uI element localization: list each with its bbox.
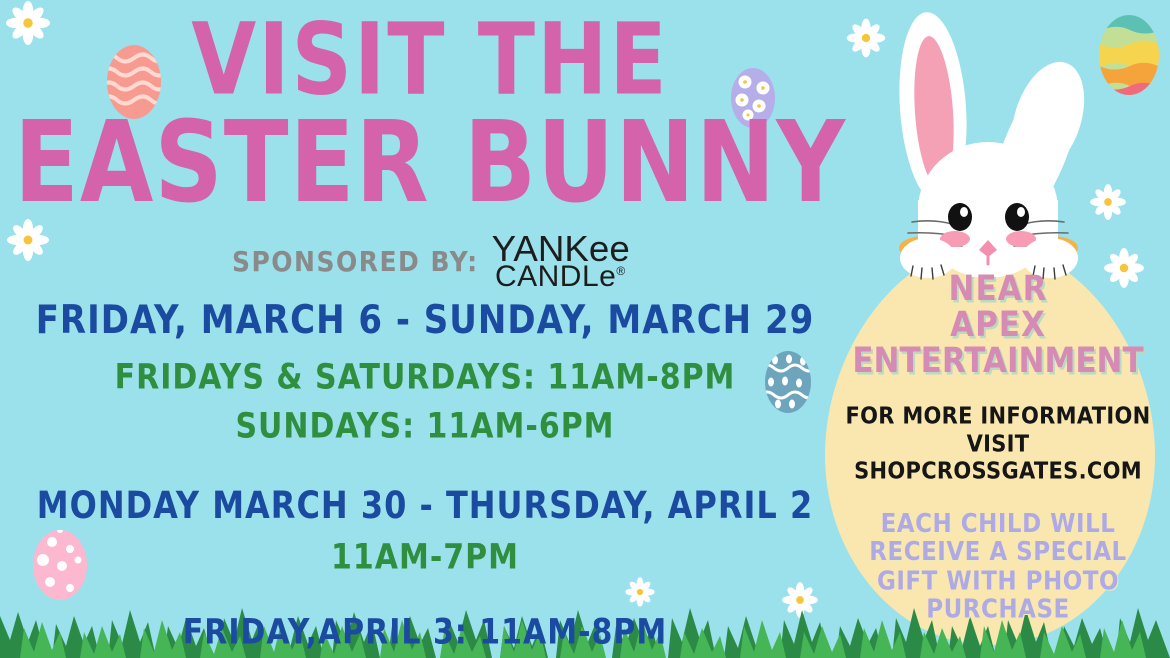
schedule-row-5: FRIDAY,APRIL 3: 11AM-8PM xyxy=(0,612,850,653)
more-information-block: FOR MORE INFORMATION VISIT SHOPCROSSGATE… xyxy=(838,403,1158,486)
headline-line-2: EASTER BUNNY xyxy=(0,109,860,219)
schedule-row-3: MONDAY MARCH 30 - THURSDAY, APRIL 2 xyxy=(0,483,850,527)
gift-line-1: EACH CHILD WILL xyxy=(838,511,1158,539)
schedule-row-1: FRIDAYS & SATURDAYS: 11AM-8PM xyxy=(0,357,850,398)
sponsor-block: SPONSORED BY: YANKee CANDLe® xyxy=(0,232,860,291)
schedule-row-2: SUNDAYS: 11AM-6PM xyxy=(0,406,850,447)
headline-line-1: VISIT THE xyxy=(0,12,860,107)
sponsored-by-label: SPONSORED BY: xyxy=(232,245,479,277)
schedule-row-4: 11AM-7PM xyxy=(0,537,850,578)
gift-note-block: EACH CHILD WILL RECEIVE A SPECIAL GIFT W… xyxy=(838,511,1158,624)
bunny-eye-right xyxy=(1005,203,1029,231)
gift-line-3: GIFT WITH PHOTO xyxy=(838,567,1158,595)
yankee-wordmark-line-1: YANKee xyxy=(491,232,629,265)
bunny-illustration xyxy=(893,10,1099,279)
info-line-1: FOR MORE INFORMATION xyxy=(838,403,1158,431)
egg-panel-text: NEAR APEX ENTERTAINMENT FOR MORE INFORMA… xyxy=(838,272,1158,618)
yankee-candle-logo: YANKee CANDLe® xyxy=(493,232,628,291)
schedule-row-0: FRIDAY, MARCH 6 - SUNDAY, MARCH 29 xyxy=(0,297,850,343)
daisy-icon xyxy=(1090,184,1126,220)
rainbow-striped-egg xyxy=(1095,10,1165,110)
schedule-block: FRIDAY, MARCH 6 - SUNDAY, MARCH 29 FRIDA… xyxy=(0,300,850,658)
easter-bunny-poster: VISIT THE EASTER BUNNY SPONSORED BY: YAN… xyxy=(0,0,1170,658)
bunny-eye-left xyxy=(948,203,972,231)
gift-line-2: RECEIVE A SPECIAL xyxy=(838,539,1158,567)
location-line-3: ENTERTAINMENT xyxy=(838,342,1158,382)
gift-line-4: PURCHASE xyxy=(838,596,1158,624)
poster-headline: VISIT THE EASTER BUNNY xyxy=(0,12,860,202)
info-line-2[interactable]: VISIT SHOPCROSSGATES.COM xyxy=(838,430,1158,485)
